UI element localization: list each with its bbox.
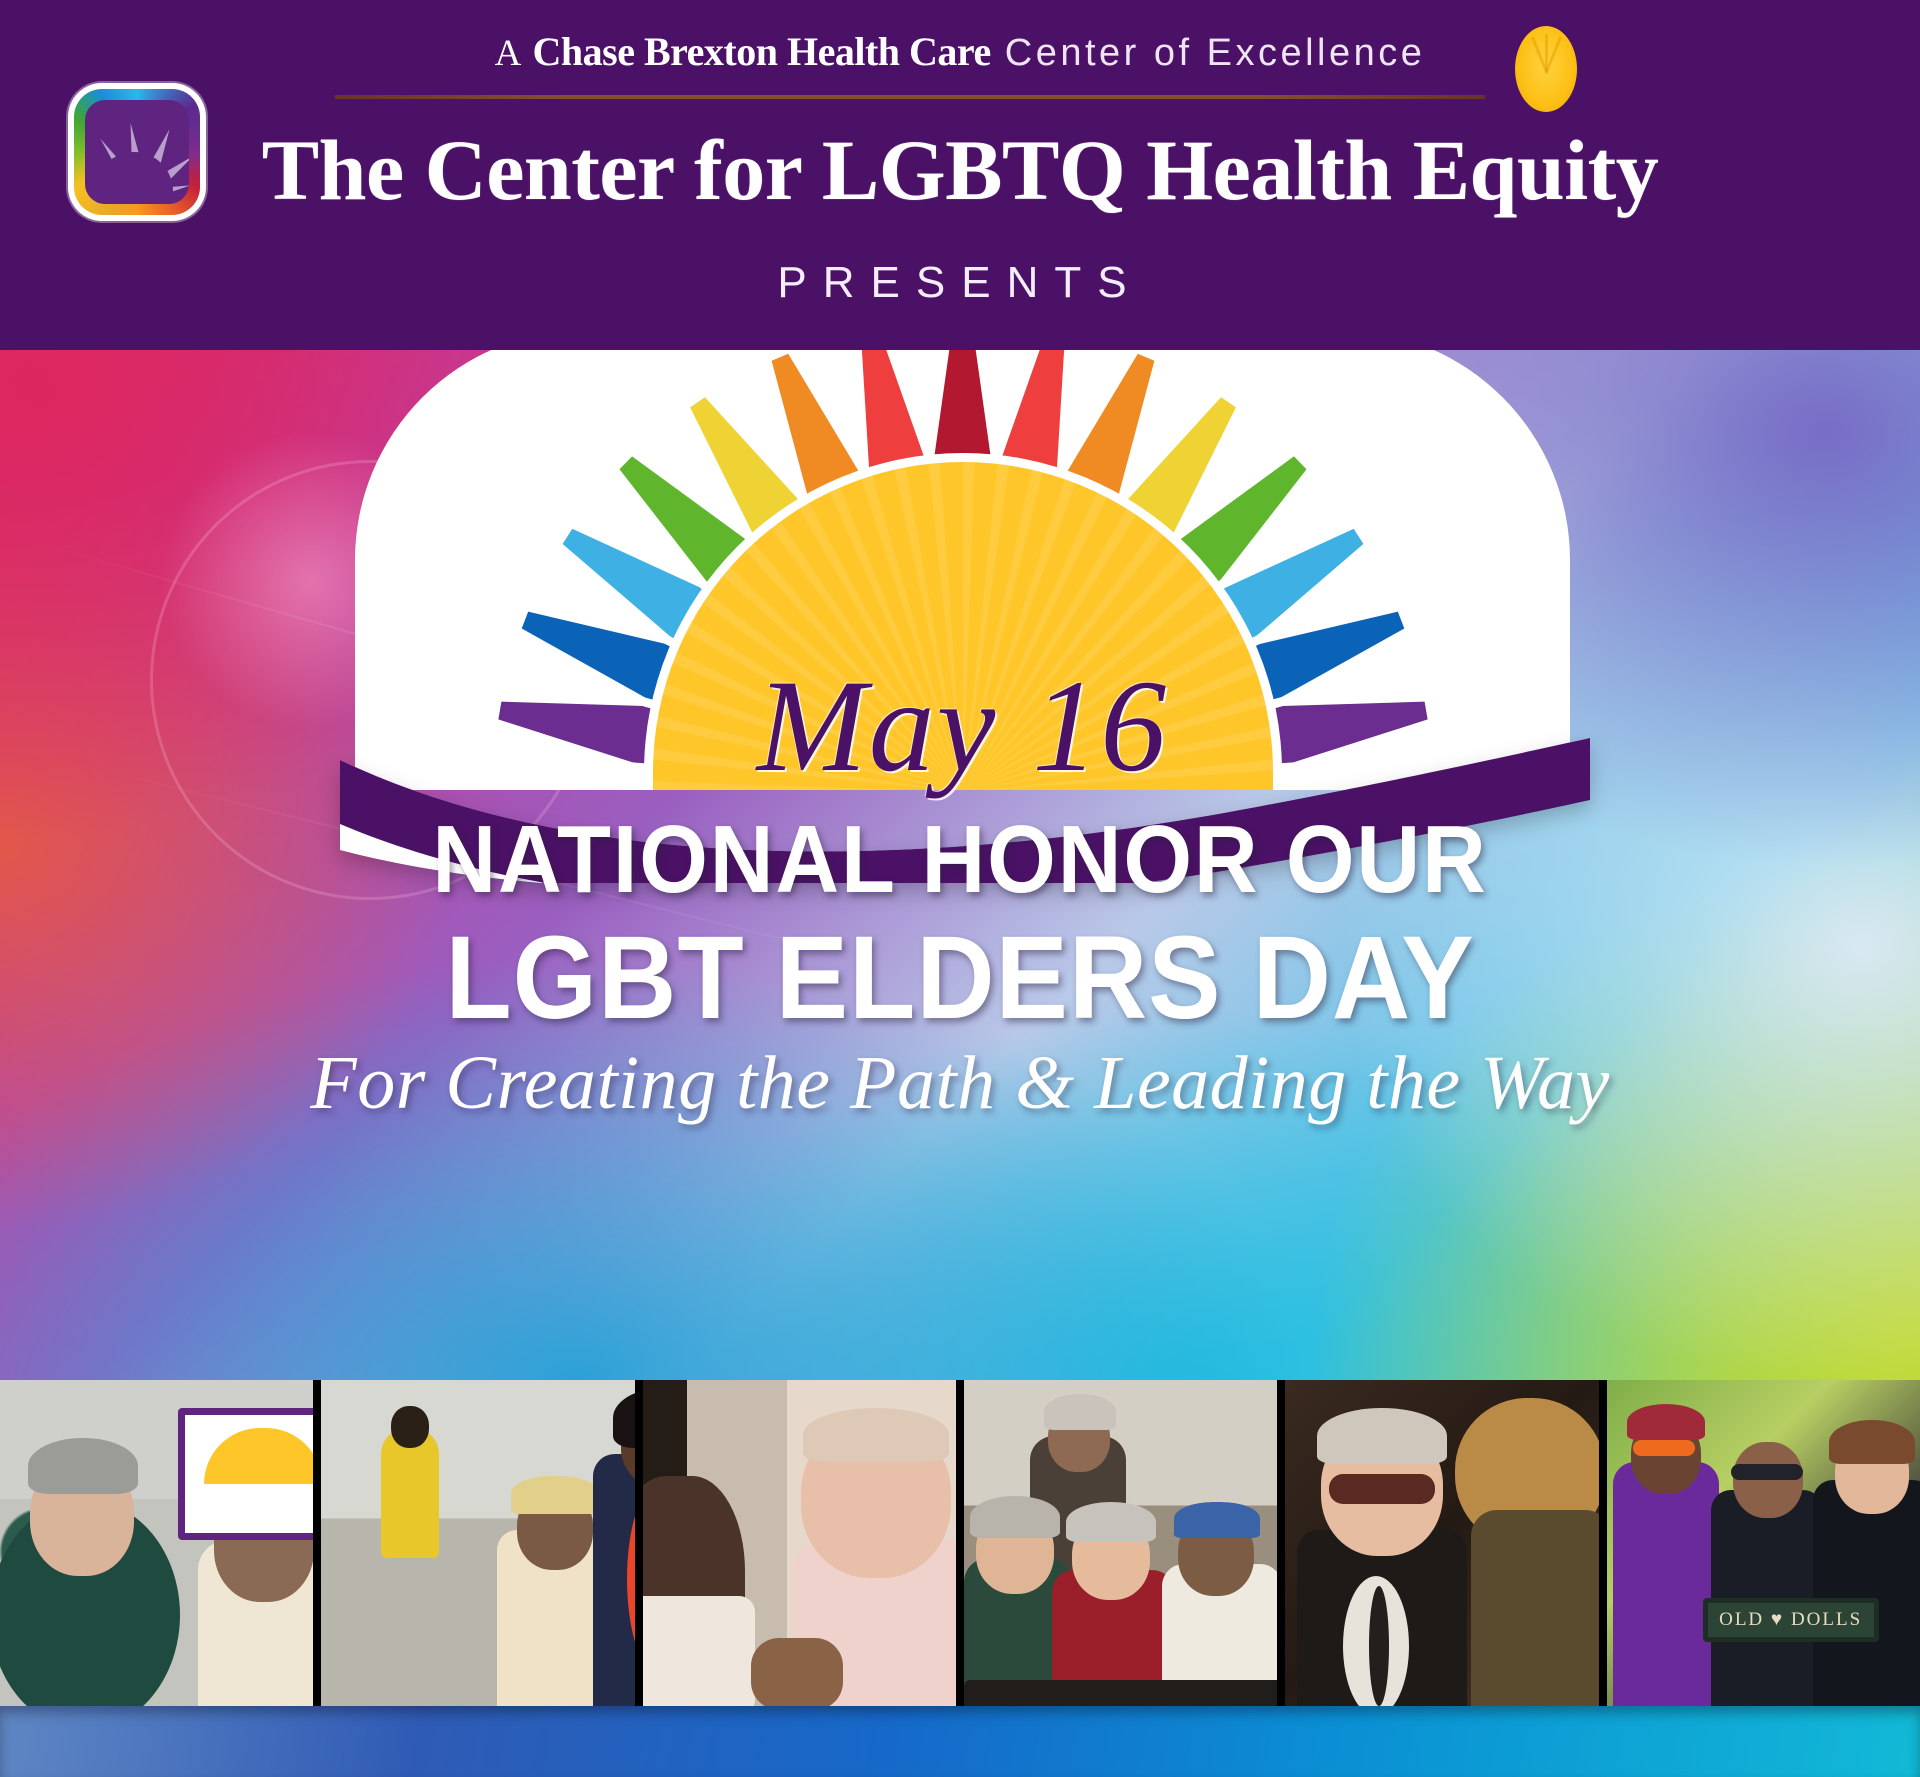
photo-embrace-with-lapel-pin: Person with short grey hair laughing dur… xyxy=(1285,1380,1598,1710)
sun-icon xyxy=(1515,26,1577,112)
page-title: The Center for LGBTQ Health Equity xyxy=(0,120,1920,220)
header-bar: A Chase Brexton Health Care Center of Ex… xyxy=(0,0,1920,350)
photo-seated-guests-at-table: Seated guests talking at a banquet table xyxy=(964,1380,1277,1710)
photo-guests-greeting-in-hall: Guests greeting one another in an event … xyxy=(321,1380,634,1710)
poster-root: A Chase Brexton Health Care Center of Ex… xyxy=(0,0,1920,1777)
old-dolls-sign-text: OLD ♥ DOLLS xyxy=(1719,1609,1862,1631)
photo-two-men-in-conversation: Two men in conversation, one wearing gla… xyxy=(643,1380,956,1710)
headline-line-1: NATIONAL HONOR OUR xyxy=(77,805,1843,915)
photo-three-women-at-banner: Three women smiling in front of the May … xyxy=(0,1380,313,1710)
bottom-strip xyxy=(0,1706,1920,1777)
photo-old-dolls-award-group: OLD ♥ DOLLS Three people holding an OLD … xyxy=(1607,1380,1920,1710)
header-tagline: A Chase Brexton Health Care Center of Ex… xyxy=(0,28,1920,75)
header-divider-rule xyxy=(335,95,1485,99)
headline-line-2: LGBT ELDERS DAY xyxy=(77,910,1843,1046)
tagline-brand: Chase Brexton Health Care xyxy=(533,29,991,74)
event-tagline: For Creating the Path & Leading the Way xyxy=(0,1040,1920,1127)
old-dolls-sign: OLD ♥ DOLLS xyxy=(1703,1598,1879,1642)
photo-strip: Three women smiling in front of the May … xyxy=(0,1380,1920,1710)
presents-label: PRESENTS xyxy=(0,258,1920,308)
tagline-prefix: A xyxy=(495,33,533,74)
tagline-suffix: Center of Excellence xyxy=(991,32,1426,74)
main-panel: May 16 NATIONAL HONOR OUR LGBT ELDERS DA… xyxy=(0,350,1920,1380)
